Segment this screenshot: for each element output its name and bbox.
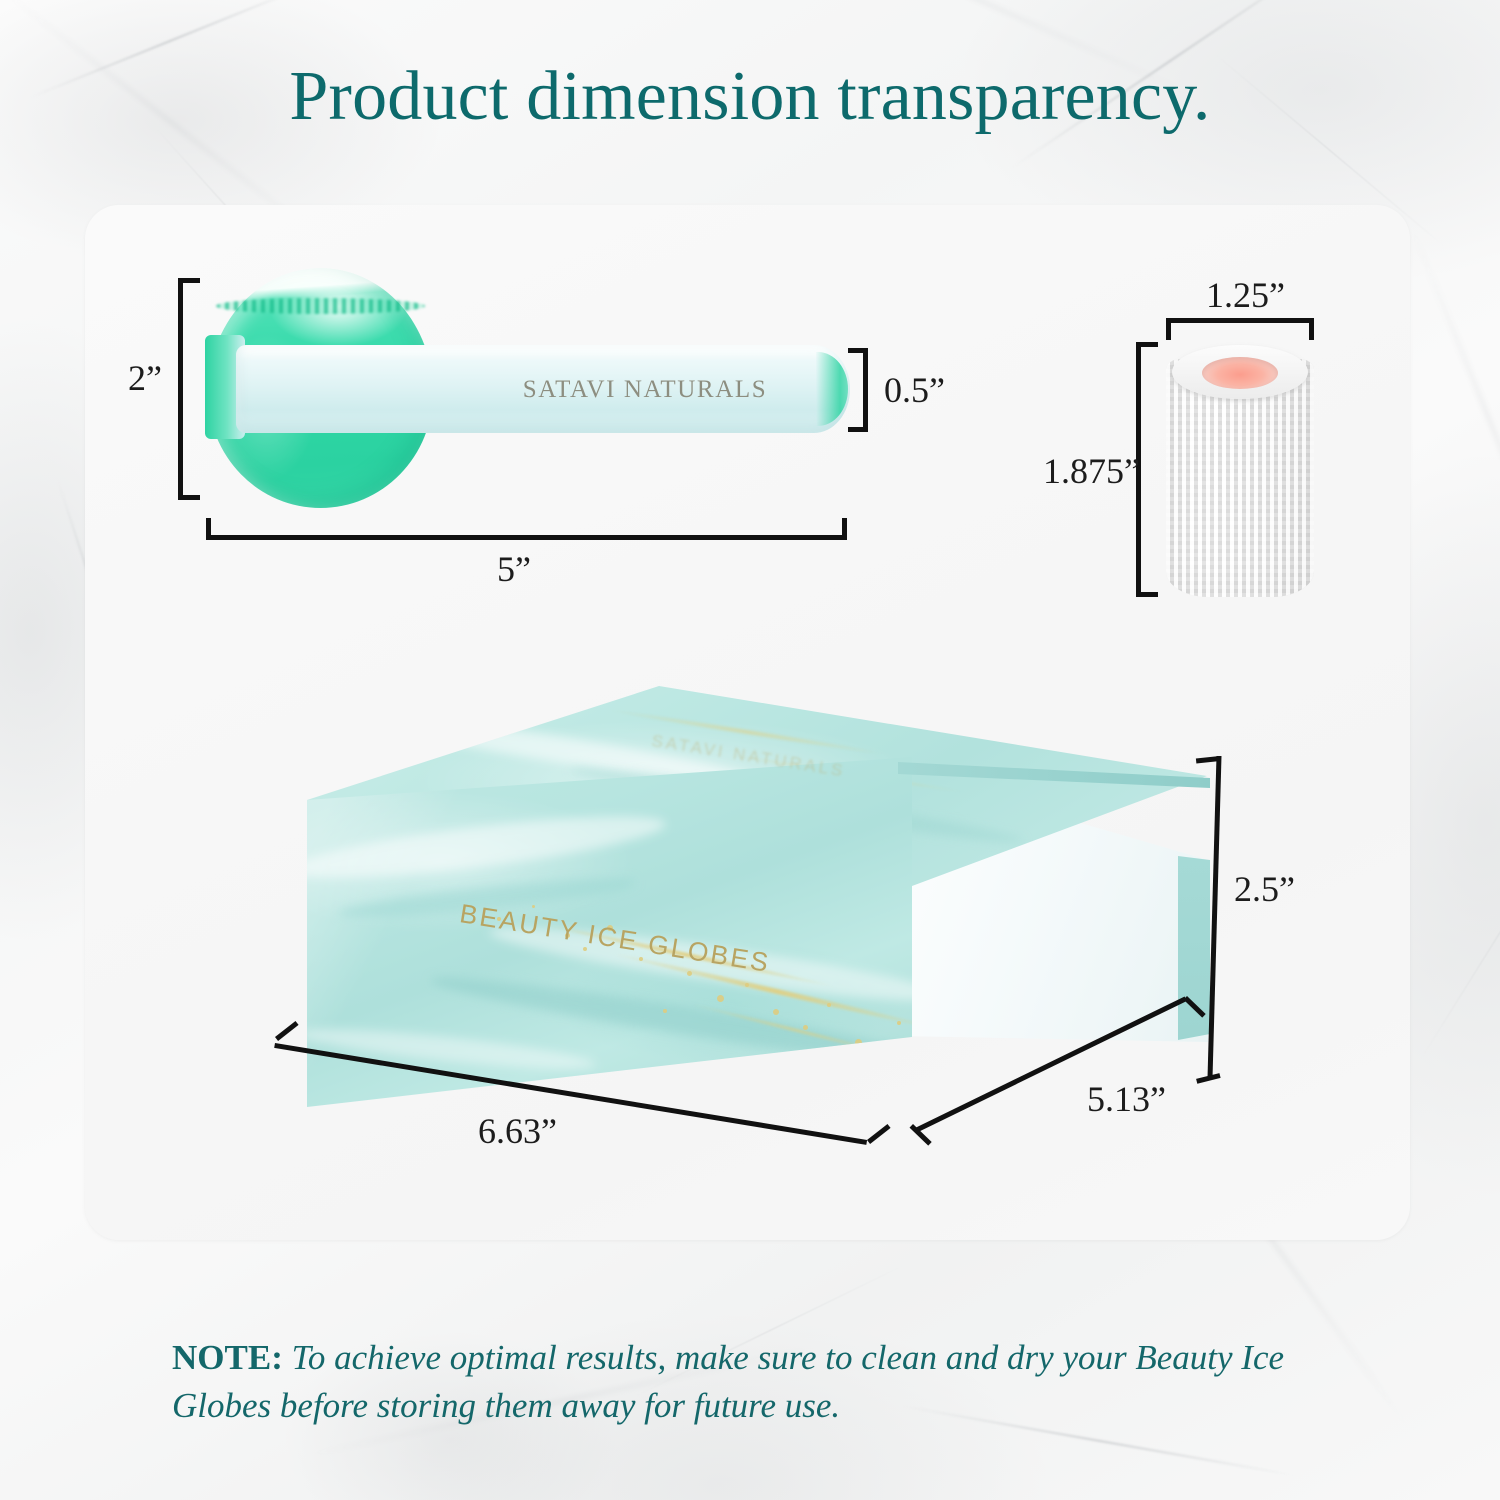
roller-height-label: 1.875”	[1043, 450, 1140, 492]
roller-width-bracket	[1166, 318, 1314, 340]
satavi-naturals-brand-text: SATAVI NATURALS	[515, 376, 775, 404]
box-width-label: 6.63”	[478, 1110, 557, 1152]
box-height-bracket	[1196, 756, 1220, 1078]
box-height-label: 2.5”	[1234, 868, 1295, 910]
marble-vein	[1410, 226, 1500, 617]
page-title: Product dimension transparency.	[0, 62, 1500, 132]
globe-handle-diameter-label: 0.5”	[884, 369, 945, 411]
roller-cavity	[1202, 357, 1278, 389]
globe-length-label: 5”	[497, 548, 531, 590]
globe-handle-diameter-bracket	[848, 348, 868, 432]
roller-width-label: 1.25”	[1206, 274, 1285, 316]
globe-length-bracket	[206, 518, 847, 540]
box-depth-bracket	[915, 1038, 1215, 1158]
note-block: NOTE: To achieve optimal results, make s…	[172, 1334, 1332, 1431]
globe-liquid-line	[216, 298, 425, 314]
box-depth-label: 5.13”	[1087, 1078, 1166, 1120]
globe-height-bracket	[178, 278, 200, 500]
box-width-bracket	[275, 1043, 875, 1153]
marble-vein	[1419, 739, 1500, 1062]
globe-height-label: 2”	[128, 357, 162, 399]
roller-sleeve-product-image	[1166, 345, 1314, 597]
note-text: To achieve optimal results, make sure to…	[172, 1338, 1284, 1425]
note-label: NOTE:	[172, 1338, 283, 1377]
